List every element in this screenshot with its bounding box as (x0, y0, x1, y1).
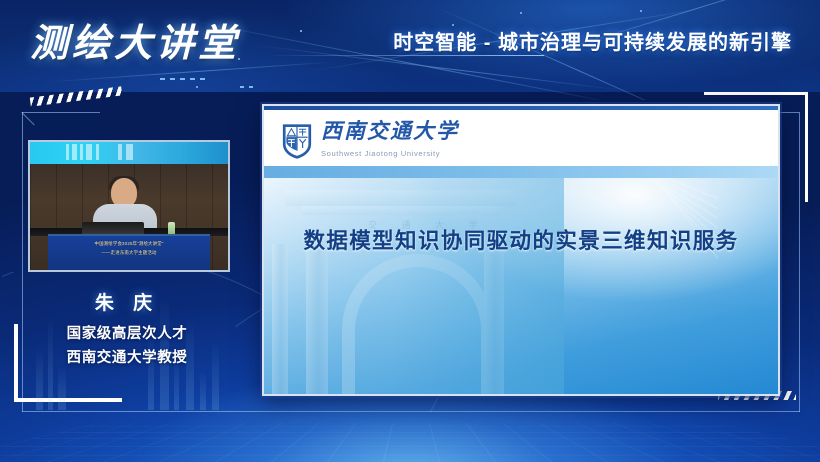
broadcast-stage: 测绘大讲堂 时空智能 - 城市治理与可持续发展的新引擎 (0, 0, 820, 462)
slide-top-accent-bar (264, 106, 778, 110)
speaker-affiliation: 西南交通大学教授 (28, 346, 226, 367)
slide-gate-fade-overlay (264, 178, 564, 394)
speaker-video-feed[interactable]: 中国测绘学会2025年“测绘大讲堂” ——走进东南大学主题活动 (28, 140, 230, 272)
podium-banner: 中国测绘学会2025年“测绘大讲堂” ——走进东南大学主题活动 (48, 234, 210, 270)
speaker-name: 朱 庆 (28, 288, 226, 315)
shield-emblem-icon (282, 123, 312, 159)
header-subtitle: 时空智能 - 城市治理与可持续发展的新引擎 (393, 26, 792, 55)
page-title: 测绘大讲堂 (30, 14, 270, 76)
speaker-panel: 中国测绘学会2025年“测绘大讲堂” ——走进东南大学主题活动 朱 庆 国家级高… (28, 140, 226, 402)
lecture-hall-screen (30, 142, 228, 164)
university-name-en: Southwest Jiaotong University (321, 149, 440, 158)
slide-title: 数据模型知识协同驱动的实景三维知识服务 (264, 224, 778, 255)
university-name-cn: 西南交通大学 (321, 118, 459, 143)
podium-banner-line-2: ——走进东南大学主题活动 (48, 249, 210, 256)
slide-blue-band (264, 166, 778, 178)
speaker-credential: 国家级高层次人才 (28, 322, 226, 343)
university-logo: 西南交通大学 Southwest Jiaotong University (282, 120, 459, 162)
podium-banner-line-1: 中国测绘学会2025年“测绘大讲堂” (48, 240, 210, 247)
presentation-slide[interactable]: 交 通 大 学 (262, 104, 780, 396)
header-divider-line (268, 55, 544, 56)
